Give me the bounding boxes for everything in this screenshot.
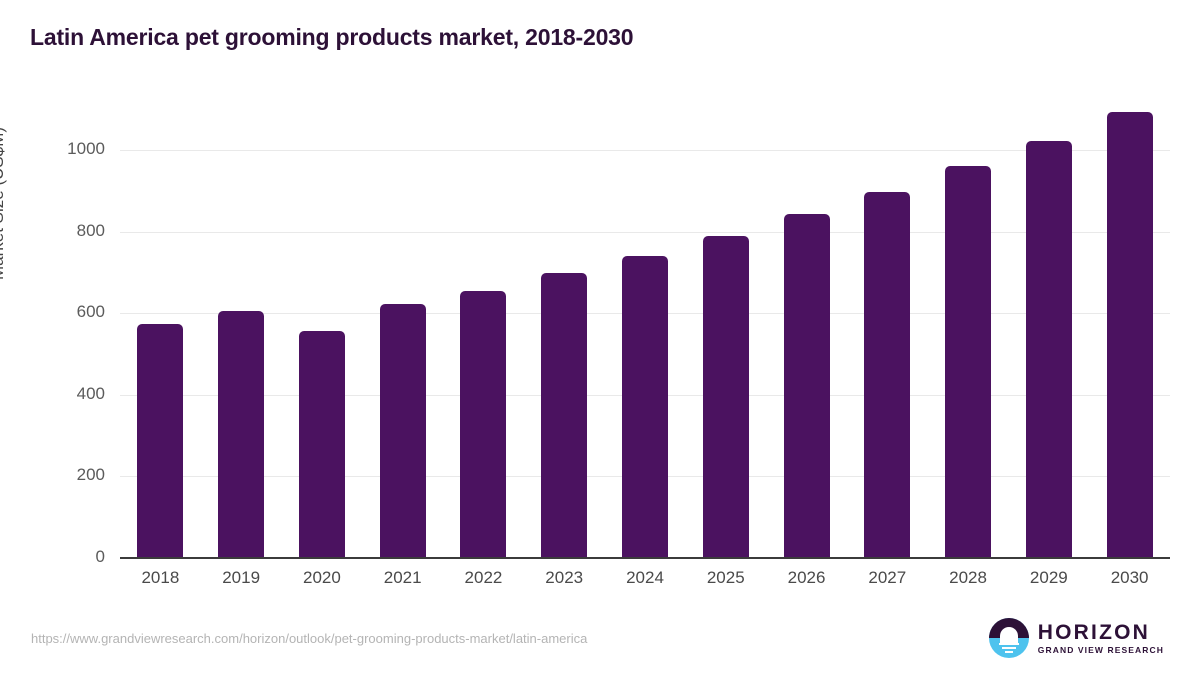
x-axis-tick-label: 2020	[277, 568, 367, 588]
x-axis-tick-label: 2029	[1004, 568, 1094, 588]
x-axis-tick-label: 2024	[600, 568, 690, 588]
logo-wordmark: HORIZON	[1038, 622, 1164, 643]
x-axis-tick-label: 2028	[923, 568, 1013, 588]
horizon-logo: HORIZON GRAND VIEW RESEARCH	[989, 616, 1164, 660]
x-axis-tick-label: 2021	[358, 568, 448, 588]
source-url[interactable]: https://www.grandviewresearch.com/horizo…	[31, 631, 587, 646]
horizon-logo-icon	[989, 618, 1029, 658]
x-axis-ticks: 2018201920202021202220232024202520262027…	[0, 0, 1200, 675]
x-axis-tick-label: 2027	[842, 568, 932, 588]
x-axis-tick-label: 2026	[762, 568, 852, 588]
x-axis-tick-label: 2019	[196, 568, 286, 588]
x-axis-tick-label: 2025	[681, 568, 771, 588]
logo-text: HORIZON GRAND VIEW RESEARCH	[1038, 622, 1164, 655]
x-axis-tick-label: 2022	[438, 568, 528, 588]
chart-page: Latin America pet grooming products mark…	[0, 0, 1200, 675]
x-axis-tick-label: 2030	[1085, 568, 1175, 588]
chart-plot: Market Size (US$M) 02004006008001000 201…	[0, 0, 1200, 675]
logo-subtitle: GRAND VIEW RESEARCH	[1038, 646, 1164, 655]
x-axis-tick-label: 2023	[519, 568, 609, 588]
x-axis-tick-label: 2018	[115, 568, 205, 588]
